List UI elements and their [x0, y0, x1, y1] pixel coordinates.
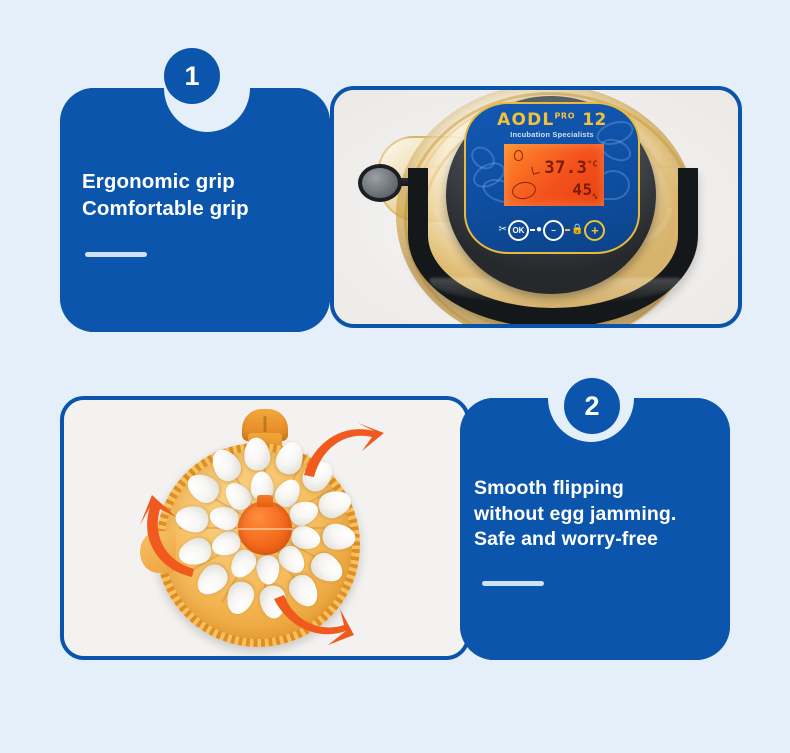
lcd-humidity-reading: 45%: [572, 180, 598, 201]
device-brand: AODLPRO 12: [466, 112, 638, 129]
lcd-temperature-value: 37.3: [544, 158, 587, 178]
control-panel: AODLPRO 12 Incubation Specialists 37.3°C…: [464, 102, 640, 254]
feature-title-2: Smooth flipping without egg jamming. Saf…: [474, 476, 730, 552]
lock-icon[interactable]: 🔒: [571, 225, 583, 235]
cancel-icon[interactable]: ✂: [499, 225, 507, 235]
control-button-row: ✂ OK ● − 🔒 +: [466, 218, 638, 242]
lcd-humidity-value: 45: [572, 180, 592, 199]
egg-turning-tray: [148, 409, 382, 647]
incubator-photo: AODLPRO 12 Incubation Specialists 37.3°C…: [334, 90, 738, 324]
lcd-thermometer-icon: [531, 165, 540, 175]
device-model: 12: [582, 110, 607, 130]
feature-line: Comfortable grip: [82, 196, 330, 223]
step-badge-1: 1: [164, 48, 220, 104]
lcd-temperature-reading: 37.3°C: [544, 158, 598, 178]
incubator-knob: [358, 164, 402, 202]
button-connector: [530, 229, 535, 231]
plus-button[interactable]: +: [584, 220, 605, 241]
rotation-arrow-icon: [138, 491, 200, 583]
lcd-display: 37.3°C 45%: [504, 144, 604, 206]
egg-turn-icon[interactable]: ●: [536, 225, 542, 235]
lcd-egg-small-icon: [514, 150, 523, 161]
rotation-arrow-icon: [300, 421, 386, 483]
feature-line: Smooth flipping: [474, 476, 730, 501]
feature-title-1: Ergonomic grip Comfortable grip: [82, 169, 330, 222]
hub-tab: [257, 495, 273, 507]
incubator-device: AODLPRO 12 Incubation Specialists 37.3°C…: [360, 106, 720, 328]
feature-line: Ergonomic grip: [82, 169, 330, 196]
device-tagline: Incubation Specialists: [466, 130, 638, 139]
feature-line: without egg jamming.: [474, 502, 730, 527]
product-image-panel-2: [60, 396, 470, 660]
minus-button[interactable]: −: [543, 220, 564, 241]
brand-name: AODL: [497, 110, 554, 130]
card-divider: [85, 252, 147, 257]
egg-tray-photo: [64, 400, 466, 656]
lcd-humidity-unit: %: [593, 192, 598, 201]
product-image-panel-1: AODLPRO 12 Incubation Specialists 37.3°C…: [330, 86, 742, 328]
lcd-egg-icon: [511, 180, 538, 201]
feature-line: Safe and worry-free: [474, 527, 730, 552]
rotation-arrow-icon: [270, 591, 358, 649]
lcd-temperature-unit: °C: [587, 159, 598, 168]
button-connector: [565, 229, 570, 231]
ok-button[interactable]: OK: [508, 220, 529, 241]
tray-center-hub: [238, 501, 292, 555]
card-divider: [482, 581, 544, 586]
step-badge-2: 2: [564, 378, 620, 434]
feature-page: AODLPRO 12 Incubation Specialists 37.3°C…: [0, 0, 790, 753]
brand-suffix: PRO: [554, 111, 575, 120]
